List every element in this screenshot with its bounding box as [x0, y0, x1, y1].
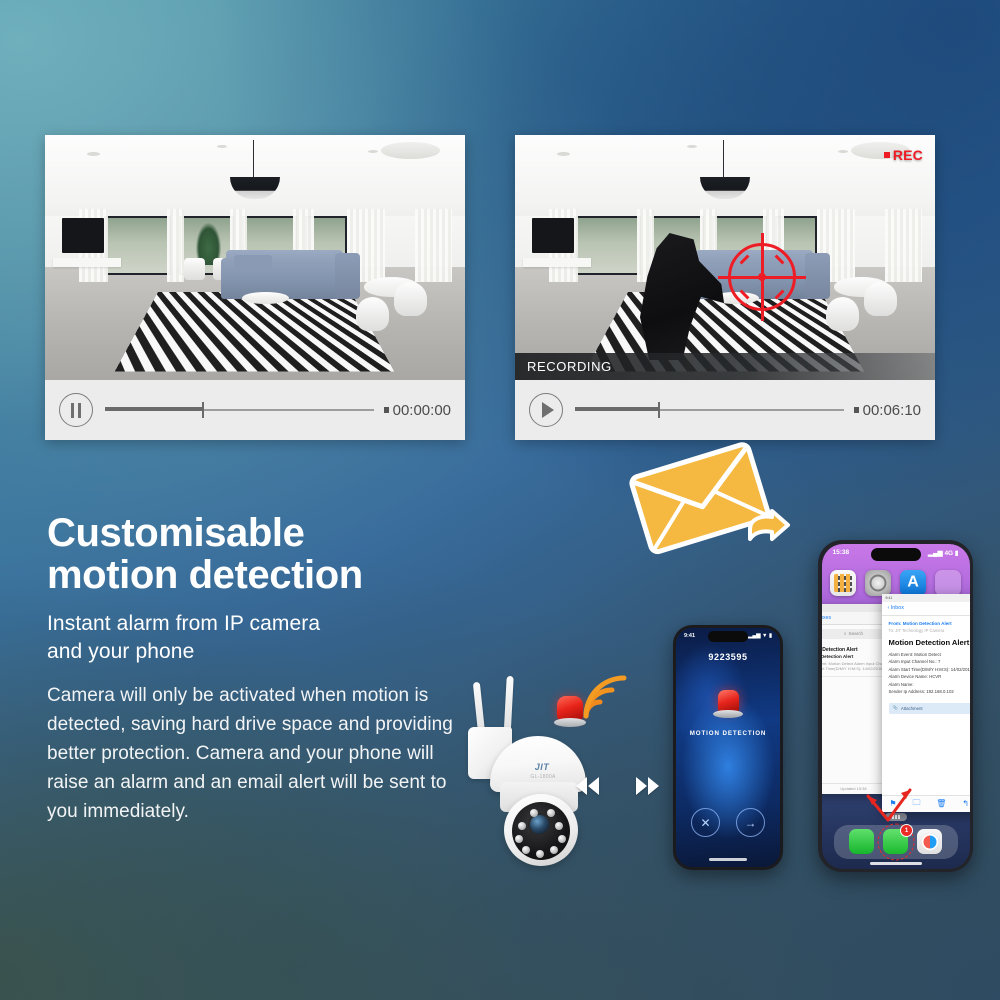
armchair: [805, 253, 830, 300]
wifi-signal-icon: [580, 672, 632, 722]
home-indicator: [870, 862, 922, 865]
dining-chair: [184, 258, 205, 280]
search-icon: ⌕: [844, 631, 847, 636]
forward-arrows-icon: [636, 777, 659, 795]
dock-icon-safari[interactable]: [917, 829, 942, 854]
mailboxes-back-button[interactable]: ‹ Mailboxes: [822, 615, 832, 621]
recording-status-strip: RECORDING: [515, 353, 935, 380]
network-label: 4G: [944, 550, 953, 557]
wall-tv: [62, 218, 104, 252]
mail-detail-status-bar: 9:41 100%: [882, 594, 970, 602]
ir-led: [547, 809, 555, 817]
live-view-player[interactable]: Area 3 Area 2 Area 1 00:00:00: [45, 135, 465, 440]
attachment-label: Attachment: [901, 706, 923, 711]
page-headline: Customisable motion detection: [47, 512, 467, 597]
recording-label: RECORDING: [515, 359, 612, 374]
seek-handle[interactable]: [658, 402, 660, 418]
play-button[interactable]: [529, 393, 563, 427]
timecode-right: 00:06:10: [854, 402, 921, 419]
timecode-right-value: 00:06:10: [863, 402, 921, 419]
rewind-arrows-icon: [576, 777, 599, 795]
camera-brand-label: JIT: [522, 762, 562, 772]
armchair: [335, 253, 360, 300]
pause-icon: [71, 403, 81, 418]
recording-video: REC RECORDING: [515, 135, 935, 380]
patterned-rug: [116, 292, 395, 371]
alarm-line: Alarm Input Channel No.: 7: [889, 658, 970, 666]
dock-icon-messages[interactable]: 1: [883, 829, 908, 854]
coffee-table: [242, 292, 288, 304]
dynamic-island: [708, 631, 748, 642]
mail-to: To: JIT Technology IP Camera: [889, 628, 970, 633]
lounge-chair: [864, 282, 898, 316]
camera-lens: [530, 815, 549, 834]
curtain: [415, 209, 453, 283]
mail-detail-body: Alarm Event: Motion Detect Alarm Input C…: [882, 651, 970, 696]
recording-player[interactable]: REC RECORDING 00:06:10: [515, 135, 935, 440]
alarm-line: Alarm Name:: [889, 681, 970, 689]
inbox-back-button[interactable]: ‹ Inbox: [888, 605, 904, 611]
page-body-text: Camera will only be activated when motio…: [47, 682, 457, 826]
home-status-right: ▂▄▆ 4G ▮: [928, 549, 958, 557]
stop-marker-icon: [854, 407, 859, 413]
dynamic-island: [871, 548, 921, 561]
seek-fill: [105, 407, 202, 411]
phone-motion-detection[interactable]: 9:41 ▂▄▆ ▼ ▮ 9223595 MOTION DETECTION ✕ …: [673, 625, 783, 870]
app-icon-calculator[interactable]: [830, 570, 856, 596]
wall-tv: [532, 218, 574, 252]
alarm-line: Sender Ip Address: 192.168.0.102: [889, 688, 970, 696]
seek-bar-left[interactable]: [105, 401, 374, 419]
rec-label: REC: [893, 147, 923, 163]
rec-indicator: REC: [884, 147, 923, 163]
home-dock[interactable]: 1: [834, 825, 958, 859]
app-icon-placeholder[interactable]: [935, 570, 961, 596]
paperclip-icon: 📎: [893, 705, 898, 711]
rec-dot-icon: [884, 152, 890, 158]
ir-led: [536, 850, 544, 858]
pendant-cord: [723, 140, 725, 179]
alarm-line: Alarm Device Name: HCVR: [889, 673, 970, 681]
app-icon-app-store[interactable]: [900, 570, 926, 596]
email-envelope-icon: [628, 437, 803, 577]
chevron-left-icon: ‹: [888, 605, 890, 611]
pause-button[interactable]: [59, 393, 93, 427]
pendant-cord: [253, 140, 255, 179]
player-controls-left[interactable]: 00:00:00: [45, 380, 465, 440]
ottoman: [234, 255, 272, 270]
ir-led: [530, 809, 538, 817]
play-icon: [542, 402, 554, 418]
alarm-line: Alarm Start Time(D/M/Y H:M:S): 14/02/201…: [889, 666, 970, 674]
decline-button[interactable]: ✕: [691, 808, 720, 837]
ceiling-vent: [87, 152, 100, 156]
player-controls-right[interactable]: 00:06:10: [515, 380, 935, 440]
accept-button[interactable]: →: [736, 808, 765, 837]
mail-detail-subject: Motion Detection Alert: [882, 636, 970, 651]
seek-fill: [575, 407, 658, 411]
ir-led: [558, 835, 566, 843]
curtain: [885, 209, 923, 283]
ir-led: [550, 846, 558, 854]
motion-status-time: 9:41: [684, 633, 695, 639]
reply-icon[interactable]: ↰: [962, 799, 969, 808]
ceiling-vent: [838, 150, 848, 153]
motion-detection-label: MOTION DETECTION: [676, 730, 780, 737]
lounge-chair: [394, 282, 428, 316]
seek-handle[interactable]: [202, 402, 204, 418]
ceiling-vent: [687, 145, 697, 148]
mail-detail-status-left: 9:41: [886, 596, 893, 600]
search-placeholder: Search: [849, 631, 864, 636]
app-row[interactable]: [822, 570, 970, 596]
ir-led: [555, 822, 563, 830]
call-actions[interactable]: ✕ →: [676, 808, 780, 837]
target-crosshair-icon: [728, 243, 796, 311]
media-console: [523, 258, 590, 268]
lounge-chair: [356, 297, 390, 331]
mail-detail-meta: From: Motion Detection Alert To: JIT Tec…: [882, 616, 970, 636]
siren-icon: [713, 690, 743, 722]
trash-icon[interactable]: 🗑: [936, 799, 946, 808]
motion-status-icons: ▂▄▆ ▼ ▮: [748, 633, 772, 639]
mailboxes-label: Mailboxes: [822, 615, 832, 621]
ip-camera-device: JIT GL-1800A: [452, 672, 637, 877]
ir-led: [518, 822, 526, 830]
ceiling-vent: [557, 152, 570, 156]
app-icon-settings[interactable]: [865, 570, 891, 596]
timecode-left: 00:00:00: [384, 402, 451, 419]
ir-led: [522, 846, 530, 854]
curtain: [167, 209, 184, 283]
home-indicator: [709, 858, 747, 861]
stop-marker-icon: [384, 407, 389, 413]
page-subheadline: Instant alarm from IP camera and your ph…: [47, 610, 477, 665]
caller-number: 9223595: [676, 652, 780, 662]
room-scene: [515, 135, 935, 380]
ceiling-vent: [217, 145, 227, 148]
home-status-time: 15:38: [833, 549, 850, 556]
seek-bar-right[interactable]: [575, 401, 844, 419]
camera-model-label: GL-1800A: [514, 774, 572, 780]
motion-detection-screen: 9:41 ▂▄▆ ▼ ▮ 9223595 MOTION DETECTION ✕ …: [676, 628, 780, 867]
subhead-line-2: and your phone: [47, 638, 477, 666]
lounge-chair: [826, 297, 860, 331]
subhead-line-1: Instant alarm from IP camera: [47, 610, 477, 638]
headline-line-2: motion detection: [47, 554, 467, 596]
marketing-banner: Area 3 Area 2 Area 1 00:00:00: [0, 0, 1000, 1000]
headline-line-1: Customisable: [47, 512, 467, 554]
live-view-video: [45, 135, 465, 380]
red-pointer-arrows: [858, 778, 918, 828]
dock-icon-phone[interactable]: [849, 829, 874, 854]
alarm-line: Alarm Event: Motion Detect: [889, 651, 970, 659]
inbox-back-label: Inbox: [891, 605, 904, 611]
media-console: [53, 258, 120, 268]
timecode-left-value: 00:00:00: [393, 402, 451, 419]
mail-attachment[interactable]: 📎 Attachment: [889, 703, 970, 714]
ceiling-vent: [368, 150, 378, 153]
ir-led: [515, 835, 523, 843]
room-scene: [45, 135, 465, 380]
mail-from: From: Motion Detection Alert: [889, 621, 970, 626]
mail-detail-nav[interactable]: ‹ Inbox ⌃ ⌄: [882, 602, 970, 616]
